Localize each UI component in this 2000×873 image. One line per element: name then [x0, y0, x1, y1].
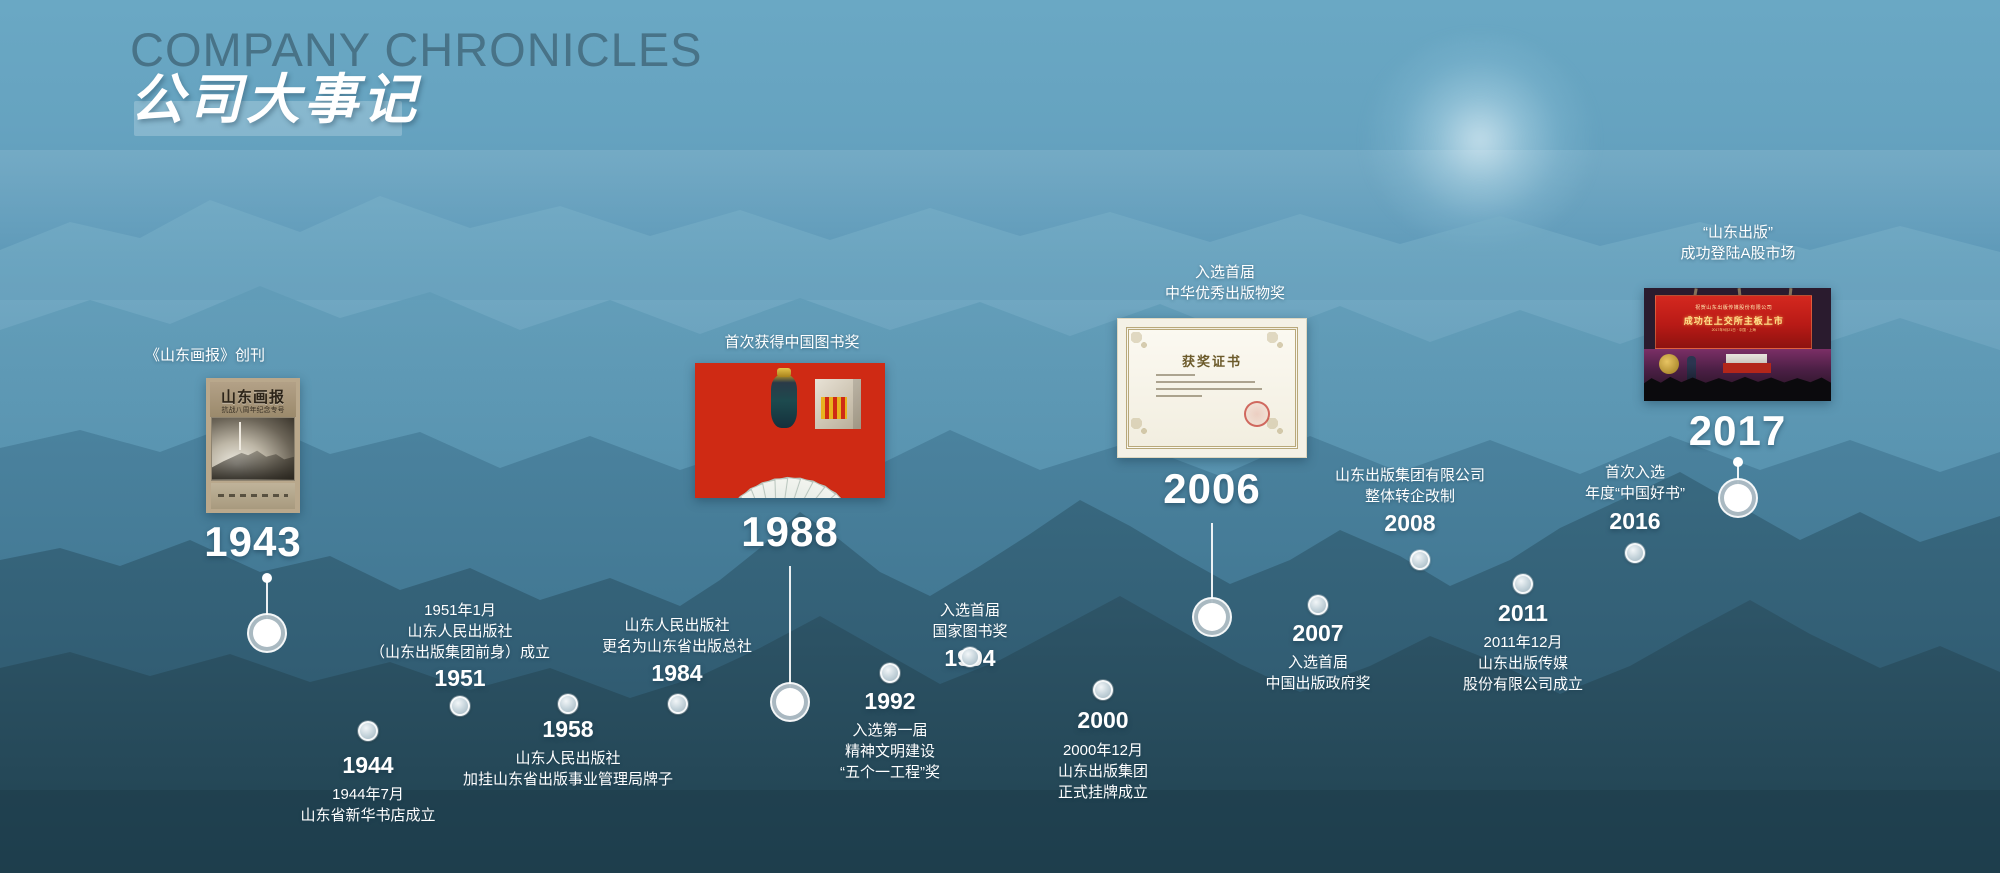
event-year-1988: 1988 [700, 508, 880, 556]
event-node-1984[interactable] [668, 694, 688, 714]
event-node-1944[interactable] [358, 721, 378, 741]
event-detail-2007: 入选首届 中国出版政府奖 [1233, 652, 1403, 694]
event-media-2017[interactable]: 祝贺山东出版传媒股份有限公司 成功在上交所主板上市 2017年9月21日 · 中… [1644, 288, 1831, 401]
award-vase [771, 374, 797, 428]
event-year-2006: 2006 [1122, 465, 1302, 513]
event-detail-2000: 2000年12月 山东出版集团 正式挂牌成立 [1018, 740, 1188, 803]
event-year-1943: 1943 [163, 518, 343, 566]
event-node-2006[interactable] [1198, 603, 1226, 631]
event-stem-cap-2017 [1733, 457, 1743, 467]
certificate-body-text [1156, 374, 1272, 402]
certificate-title: 获奖证书 [1129, 351, 1295, 370]
ceremony-table [1723, 363, 1772, 373]
event-caption-1994: 入选首届 国家图书奖 [885, 600, 1055, 642]
ceremony-gong [1659, 354, 1679, 374]
magazine-subtitle: 抗战八周年纪念专号 [206, 405, 300, 415]
event-year-1992: 1992 [810, 688, 970, 715]
event-node-2016[interactable] [1625, 543, 1645, 563]
event-stem-1988 [789, 566, 791, 692]
magazine-title: 山东画报 [206, 386, 300, 407]
event-node-2007[interactable] [1308, 595, 1328, 615]
event-media-1988[interactable] [695, 363, 885, 498]
event-media-1943[interactable]: 山东画报 抗战八周年纪念专号 [206, 378, 300, 513]
event-caption-1988: 首次获得中国图书奖 [672, 332, 912, 353]
event-node-1943[interactable] [253, 619, 281, 647]
event-node-2008[interactable] [1410, 550, 1430, 570]
ceremony-banner-line-2: 成功在上交所主板上市 [1656, 314, 1811, 327]
event-stem-cap-1943 [262, 573, 272, 583]
event-caption-2017: “山东出版” 成功登陆A股市场 [1608, 222, 1868, 264]
event-year-2008: 2008 [1330, 510, 1490, 537]
event-year-1984: 1984 [597, 660, 757, 687]
event-year-2007: 2007 [1238, 620, 1398, 647]
magazine-footer-text [218, 494, 289, 497]
illustration-hills [212, 442, 294, 480]
event-node-1951[interactable] [450, 696, 470, 716]
event-detail-1992: 入选第一届 精神文明建设 “五个一工程”奖 [805, 720, 975, 783]
event-year-2000: 2000 [1023, 707, 1183, 734]
magazine-cover-illustration [211, 417, 295, 480]
event-node-1994[interactable] [960, 647, 980, 667]
event-year-1951: 1951 [380, 665, 540, 692]
certificate-ornament [1267, 418, 1293, 444]
event-caption-2006: 入选首届 中华优秀出版物奖 [1110, 262, 1340, 304]
ceremony-banner-line-1: 祝贺山东出版传媒股份有限公司 [1656, 304, 1811, 311]
event-year-2011: 2011 [1443, 600, 1603, 627]
event-caption-2008: 山东出版集团有限公司 整体转企改制 [1290, 465, 1530, 507]
event-year-1944: 1944 [288, 752, 448, 779]
event-caption-1984: 山东人民出版社 更名为山东省出版总社 [562, 615, 792, 657]
certificate-ornament [1131, 418, 1157, 444]
event-year-2017: 2017 [1645, 407, 1830, 455]
ceremony-led-screen: 祝贺山东出版传媒股份有限公司 成功在上交所主板上市 2017年9月21日 · 中… [1655, 295, 1812, 349]
page-header: COMPANY CHRONICLES 公司大事记 [130, 22, 703, 134]
illustration-pole [239, 422, 241, 450]
page-title: 公司大事记 [130, 55, 703, 134]
event-node-2017[interactable] [1724, 484, 1752, 512]
event-node-1958[interactable] [558, 694, 578, 714]
event-node-1988[interactable] [776, 688, 804, 716]
infographic-canvas: COMPANY CHRONICLES 公司大事记 《山东画报》创刊 山东画报 抗… [0, 0, 2000, 873]
event-caption-2016: 首次入选 年度“中国好书” [1520, 462, 1750, 504]
event-caption-1943: 《山东画报》创刊 [110, 345, 300, 366]
award-books-fan [695, 422, 885, 498]
ceremony-banner-line-3: 2017年9月21日 · 中国 · 上海 [1656, 328, 1811, 333]
event-stem-2006 [1211, 523, 1213, 607]
ceremony-speaker [1687, 356, 1696, 382]
event-media-2006[interactable]: 获奖证书 [1117, 318, 1307, 458]
magazine-footer-band [211, 483, 295, 509]
event-node-2000[interactable] [1093, 680, 1113, 700]
sun-glow [1365, 35, 1595, 245]
event-detail-1958: 山东人民出版社 加挂山东省出版事业管理局牌子 [438, 748, 698, 790]
event-caption-1951: 1951年1月 山东人民出版社 （山东出版集团前身）成立 [340, 600, 580, 663]
event-detail-1944: 1944年7月 山东省新华书店成立 [273, 784, 463, 826]
event-node-2011[interactable] [1513, 574, 1533, 594]
certificate-border: 获奖证书 [1126, 327, 1298, 449]
event-detail-2011: 2011年12月 山东出版传媒 股份有限公司成立 [1438, 632, 1608, 695]
event-year-2016: 2016 [1555, 508, 1715, 535]
event-stem-1943 [266, 578, 268, 624]
event-year-1958: 1958 [488, 716, 648, 743]
